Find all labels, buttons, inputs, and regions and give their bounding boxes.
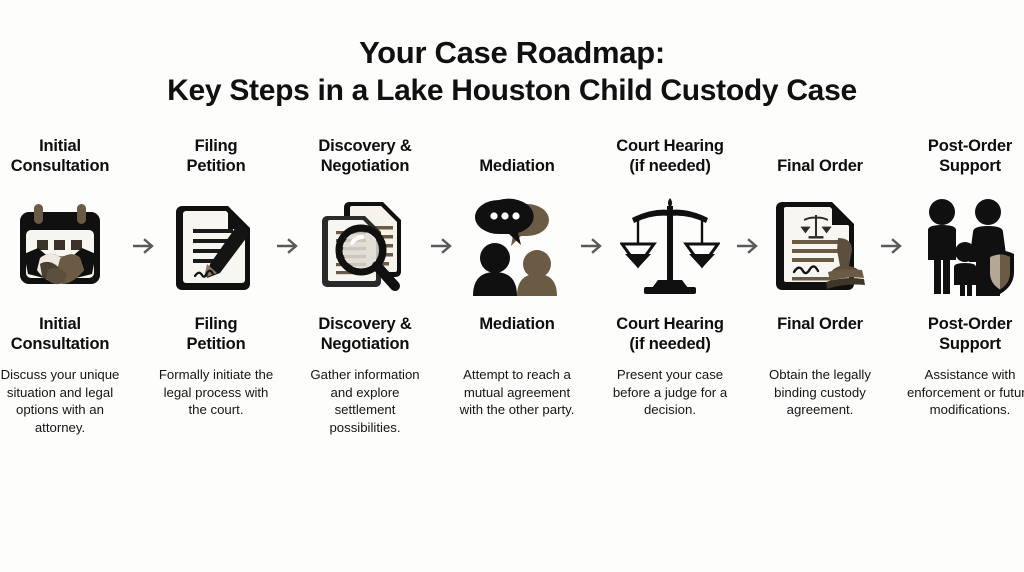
page-title: Your Case Roadmap: Key Steps in a Lake H… — [0, 0, 1024, 110]
step-top-label-line: Negotiation — [318, 156, 411, 176]
document-pen-signature-icon — [168, 192, 264, 300]
step-bottom-label: Initial Consultation — [11, 314, 109, 356]
step-bottom-label-line: Support — [928, 334, 1012, 354]
step-court-hearing: Court Hearing (if needed) Court Hearing … — [606, 134, 734, 419]
step-top-label-line: Support — [928, 156, 1012, 176]
step-top-label-line: Consultation — [11, 156, 109, 176]
step-bottom-label: Court Hearing (if needed) — [616, 314, 723, 356]
two-people-speech-bubbles-icon — [465, 192, 569, 300]
arrow-3 — [428, 192, 456, 300]
step-bottom-label-line: Discovery & — [318, 314, 411, 334]
arrow-5 — [734, 192, 762, 300]
step-top-label-line: Court Hearing — [616, 136, 723, 156]
step-description: Assistance with enforcement or future mo… — [906, 366, 1024, 419]
step-mediation: Mediation Mediation Attempt to reach a m… — [456, 134, 578, 419]
step-discovery-negotiation: Discovery & Negotiation — [302, 134, 428, 436]
step-bottom-label: Final Order — [777, 314, 863, 356]
step-bottom-label-line: Initial — [11, 314, 109, 334]
step-description: Obtain the legally binding custody agree… — [762, 366, 878, 419]
roadmap-steps: Initial Consultation — [0, 134, 1024, 436]
step-top-label-line: Initial — [11, 136, 109, 156]
step-bottom-label-line: Consultation — [11, 334, 109, 354]
step-bottom-label: Filing Petition — [187, 314, 246, 356]
family-shield-icon — [916, 192, 1024, 300]
step-bottom-label-line: Court Hearing — [616, 314, 723, 334]
step-bottom-label-line: Mediation — [479, 314, 554, 334]
step-top-label-line: Mediation — [479, 156, 554, 176]
step-top-label: Post-Order Support — [928, 134, 1012, 176]
step-top-label-line: Discovery & — [318, 136, 411, 156]
step-top-label-line: Final Order — [777, 156, 863, 176]
step-bottom-label-line: Petition — [187, 334, 246, 354]
step-bottom-label-line: Negotiation — [318, 334, 411, 354]
step-description: Discuss your unique situation and legal … — [0, 366, 130, 436]
step-top-label: Filing Petition — [187, 134, 246, 176]
step-description: Attempt to reach a mutual agreement with… — [456, 366, 578, 419]
step-top-label-line: Filing — [187, 136, 246, 156]
step-top-label-line: Petition — [187, 156, 246, 176]
arrow-2 — [274, 192, 302, 300]
step-top-label-line: Post-Order — [928, 136, 1012, 156]
step-description: Present your case before a judge for a d… — [606, 366, 734, 419]
step-post-order-support: Post-Order Support Post-Order Support As — [906, 134, 1024, 419]
step-initial-consultation: Initial Consultation — [0, 134, 130, 436]
step-top-label: Discovery & Negotiation — [318, 134, 411, 176]
step-bottom-label: Post-Order Support — [928, 314, 1012, 356]
documents-magnifier-icon — [315, 192, 415, 300]
step-bottom-label: Mediation — [479, 314, 554, 356]
step-description: Gather information and explore settlemen… — [302, 366, 428, 436]
step-top-label: Final Order — [777, 134, 863, 176]
step-bottom-label-line: Post-Order — [928, 314, 1012, 334]
step-final-order: Final Order — [762, 134, 878, 419]
arrow-4 — [578, 192, 606, 300]
step-top-label: Court Hearing (if needed) — [616, 134, 723, 176]
signed-document-stamp-icon — [770, 192, 870, 300]
title-line-2: Key Steps in a Lake Houston Child Custod… — [0, 72, 1024, 110]
step-top-label: Mediation — [479, 134, 554, 176]
step-bottom-label-line: (if needed) — [616, 334, 723, 354]
step-top-label-line: (if needed) — [616, 156, 723, 176]
step-bottom-label-line: Filing — [187, 314, 246, 334]
step-bottom-label: Discovery & Negotiation — [318, 314, 411, 356]
step-description: Formally initiate the legal process with… — [158, 366, 274, 419]
step-top-label: Initial Consultation — [11, 134, 109, 176]
scales-of-justice-icon — [620, 192, 720, 300]
step-filing-petition: Filing Petition Filing Petition Formally — [158, 134, 274, 419]
calendar-handshake-icon — [4, 192, 116, 300]
step-bottom-label-line: Final Order — [777, 314, 863, 334]
arrow-6 — [878, 192, 906, 300]
title-line-1: Your Case Roadmap: — [0, 34, 1024, 72]
arrow-1 — [130, 192, 158, 300]
